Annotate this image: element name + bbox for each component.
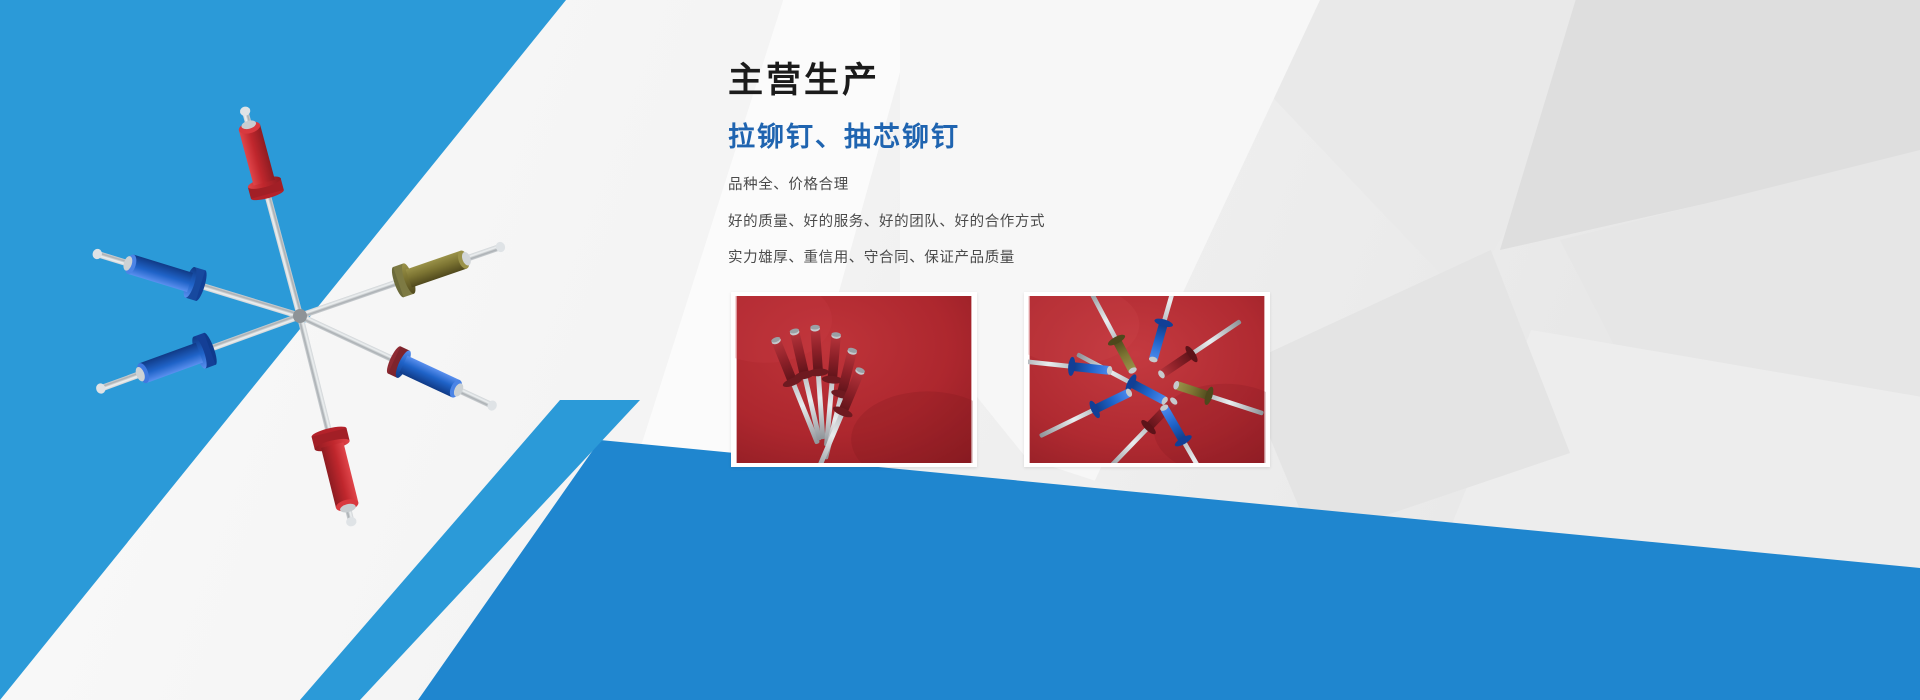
product-photo-red-rivets[interactable]	[731, 292, 977, 467]
product-photo-mixed-rivets[interactable]	[1024, 292, 1270, 467]
page-subtitle: 拉铆钉、抽芯铆钉	[728, 123, 1348, 153]
product-photo-gallery	[731, 292, 1270, 467]
banner-copy: 主营生产 拉铆钉、抽芯铆钉 品种全、价格合理 好的质量、好的服务、好的团队、好的…	[728, 62, 1348, 266]
rivet-starburst-image	[40, 50, 560, 570]
blurb-line-1: 品种全、价格合理	[728, 178, 1348, 193]
banner-stage: 主营生产 拉铆钉、抽芯铆钉 品种全、价格合理 好的质量、好的服务、好的团队、好的…	[0, 0, 1920, 700]
blurb-line-3: 实力雄厚、重信用、守合同、保证产品质量	[728, 251, 1348, 266]
blurb-line-2: 好的质量、好的服务、好的团队、好的合作方式	[728, 215, 1348, 230]
page-title: 主营生产	[728, 62, 1348, 101]
